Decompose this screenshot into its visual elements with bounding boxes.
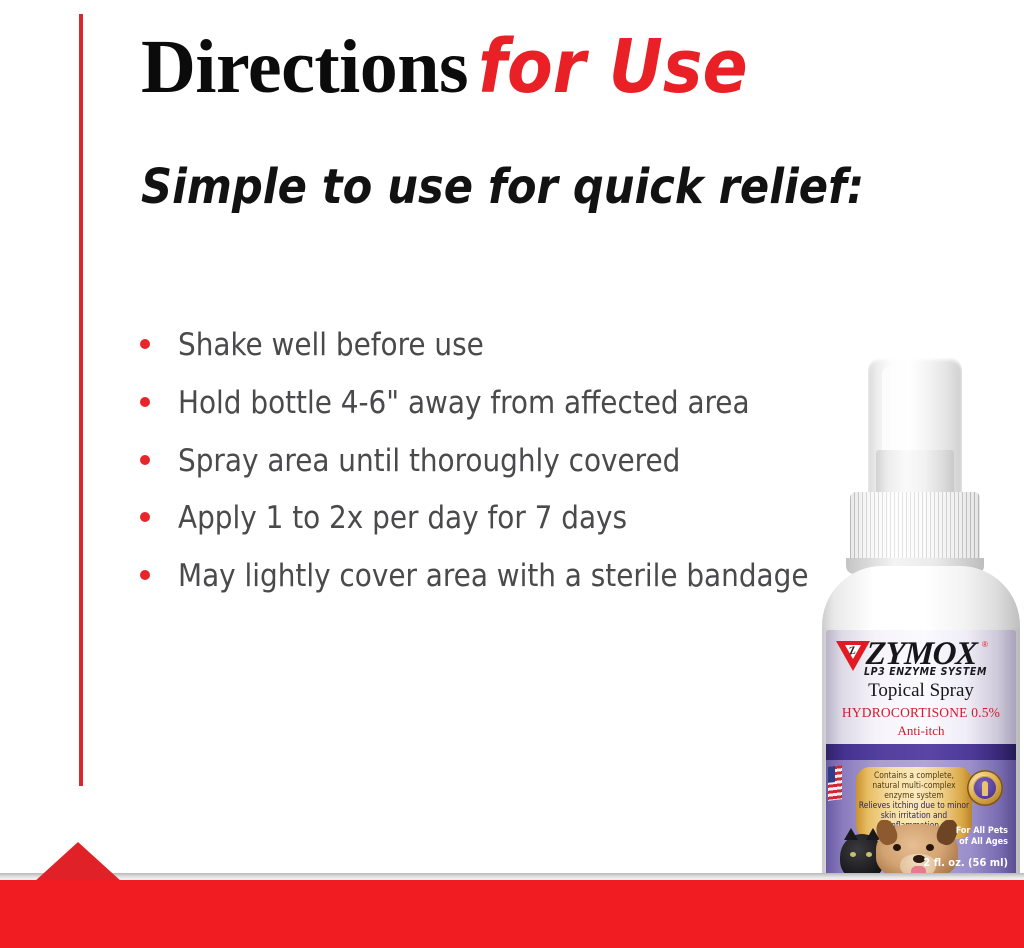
page-title-red: for Use — [478, 24, 748, 110]
product-type-label: Topical Spray — [826, 680, 1016, 702]
registered-trademark-icon: ® — [982, 640, 988, 649]
banner-bar — [0, 880, 1024, 948]
us-flag-icon — [828, 765, 842, 801]
product-bottle-image: Z ZYMOX ® LP3 ENZYME SYSTEM Topical Spra… — [818, 358, 1024, 918]
zymox-tagline: LP3 ENZYME SYSTEM — [864, 666, 987, 678]
page-title: Directionsfor Use — [141, 29, 748, 105]
left-red-rule — [79, 14, 83, 786]
bullet-dot-icon — [140, 512, 150, 522]
bottle-cap-collar — [850, 492, 980, 566]
active-ingredient-label: HYDROCORTISONE 0.5% — [826, 705, 1016, 721]
list-item-label: May lightly cover area with a sterile ba… — [178, 558, 809, 594]
list-item-label: Hold bottle 4-6" away from affected area — [178, 385, 750, 421]
list-item-label: Apply 1 to 2x per day for 7 days — [178, 500, 627, 536]
bullet-dot-icon — [140, 570, 150, 580]
list-item: Spray area until thoroughly covered — [132, 442, 832, 481]
page-subtitle: Simple to use for quick relief: — [141, 163, 864, 211]
bottom-red-banner — [0, 840, 1024, 948]
gold-seal-figure-icon — [982, 781, 988, 796]
bullet-dot-icon — [140, 455, 150, 465]
anti-itch-label: Anti-itch — [826, 723, 1016, 739]
audience-line-1: For All Pets — [956, 826, 1008, 837]
list-item: Apply 1 to 2x per day for 7 days — [132, 499, 832, 538]
list-item: Hold bottle 4-6" away from affected area — [132, 384, 832, 423]
list-item: May lightly cover area with a sterile ba… — [132, 557, 832, 596]
gold-seal-icon — [967, 770, 1003, 806]
page-title-black: Directions — [141, 25, 468, 109]
spray-nozzle — [876, 450, 954, 498]
banner-peak-icon — [34, 842, 122, 882]
label-purple-band — [826, 744, 1016, 761]
list-item-label: Shake well before use — [178, 327, 484, 363]
list-item: Shake well before use — [132, 326, 832, 365]
instructions-list: Shake well before use Hold bottle 4-6" a… — [132, 326, 832, 615]
directions-for-use-page: Directionsfor Use Simple to use for quic… — [0, 0, 1024, 948]
list-item-label: Spray area until thoroughly covered — [178, 443, 680, 479]
bullet-dot-icon — [140, 339, 150, 349]
bullet-dot-icon — [140, 397, 150, 407]
